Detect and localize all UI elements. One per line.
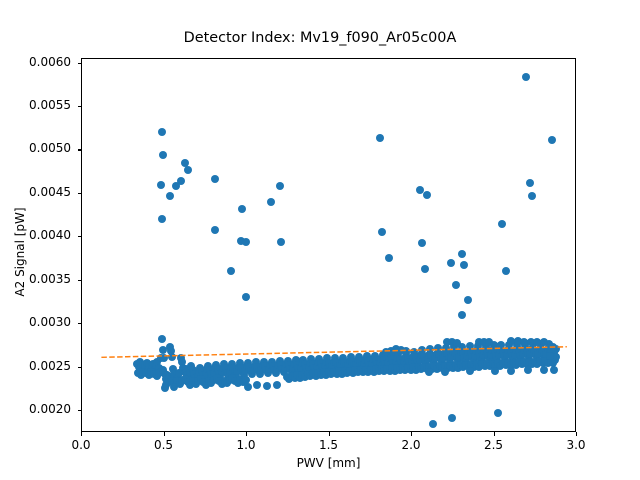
y-tick-mark (78, 410, 82, 411)
x-tick-label: 0.5 (134, 438, 194, 452)
y-tick-mark (78, 193, 82, 194)
y-tick-label: 0.0050 (0, 141, 71, 155)
x-tick-mark (411, 432, 412, 436)
y-tick-mark (78, 149, 82, 150)
x-tick-label: 0.0 (51, 438, 111, 452)
y-tick-mark (78, 106, 82, 107)
x-tick-mark (576, 432, 577, 436)
y-tick-label: 0.0060 (0, 55, 71, 69)
x-tick-mark (329, 432, 330, 436)
x-tick-label: 2.0 (381, 438, 441, 452)
y-tick-label: 0.0035 (0, 272, 71, 286)
x-tick-mark (164, 432, 165, 436)
y-tick-label: 0.0040 (0, 228, 71, 242)
x-tick-mark (246, 432, 247, 436)
y-tick-mark (78, 323, 82, 324)
y-tick-label: 0.0030 (0, 315, 71, 329)
trend-line-layer (82, 59, 575, 431)
y-axis-label: A2 Signal [pW] (13, 152, 27, 352)
y-tick-label: 0.0055 (0, 98, 71, 112)
page-title: Detector Index: Mv19_f090_Ar05c00A (0, 30, 640, 46)
y-tick-label: 0.0045 (0, 185, 71, 199)
y-tick-mark (78, 236, 82, 237)
plot-area (81, 58, 576, 432)
scatter-plot-figure: Detector Index: Mv19_f090_Ar05c00A 0.00.… (0, 0, 640, 480)
y-tick-mark (78, 63, 82, 64)
x-tick-mark (494, 432, 495, 436)
x-tick-label: 1.5 (299, 438, 359, 452)
y-tick-label: 0.0025 (0, 359, 71, 373)
x-tick-label: 3.0 (546, 438, 606, 452)
x-tick-mark (81, 432, 82, 436)
x-axis-label: PWV [mm] (81, 456, 576, 470)
trend-line (101, 347, 566, 358)
y-tick-label: 0.0020 (0, 402, 71, 416)
x-tick-label: 2.5 (464, 438, 524, 452)
x-tick-label: 1.0 (216, 438, 276, 452)
y-tick-mark (78, 280, 82, 281)
y-tick-mark (78, 367, 82, 368)
